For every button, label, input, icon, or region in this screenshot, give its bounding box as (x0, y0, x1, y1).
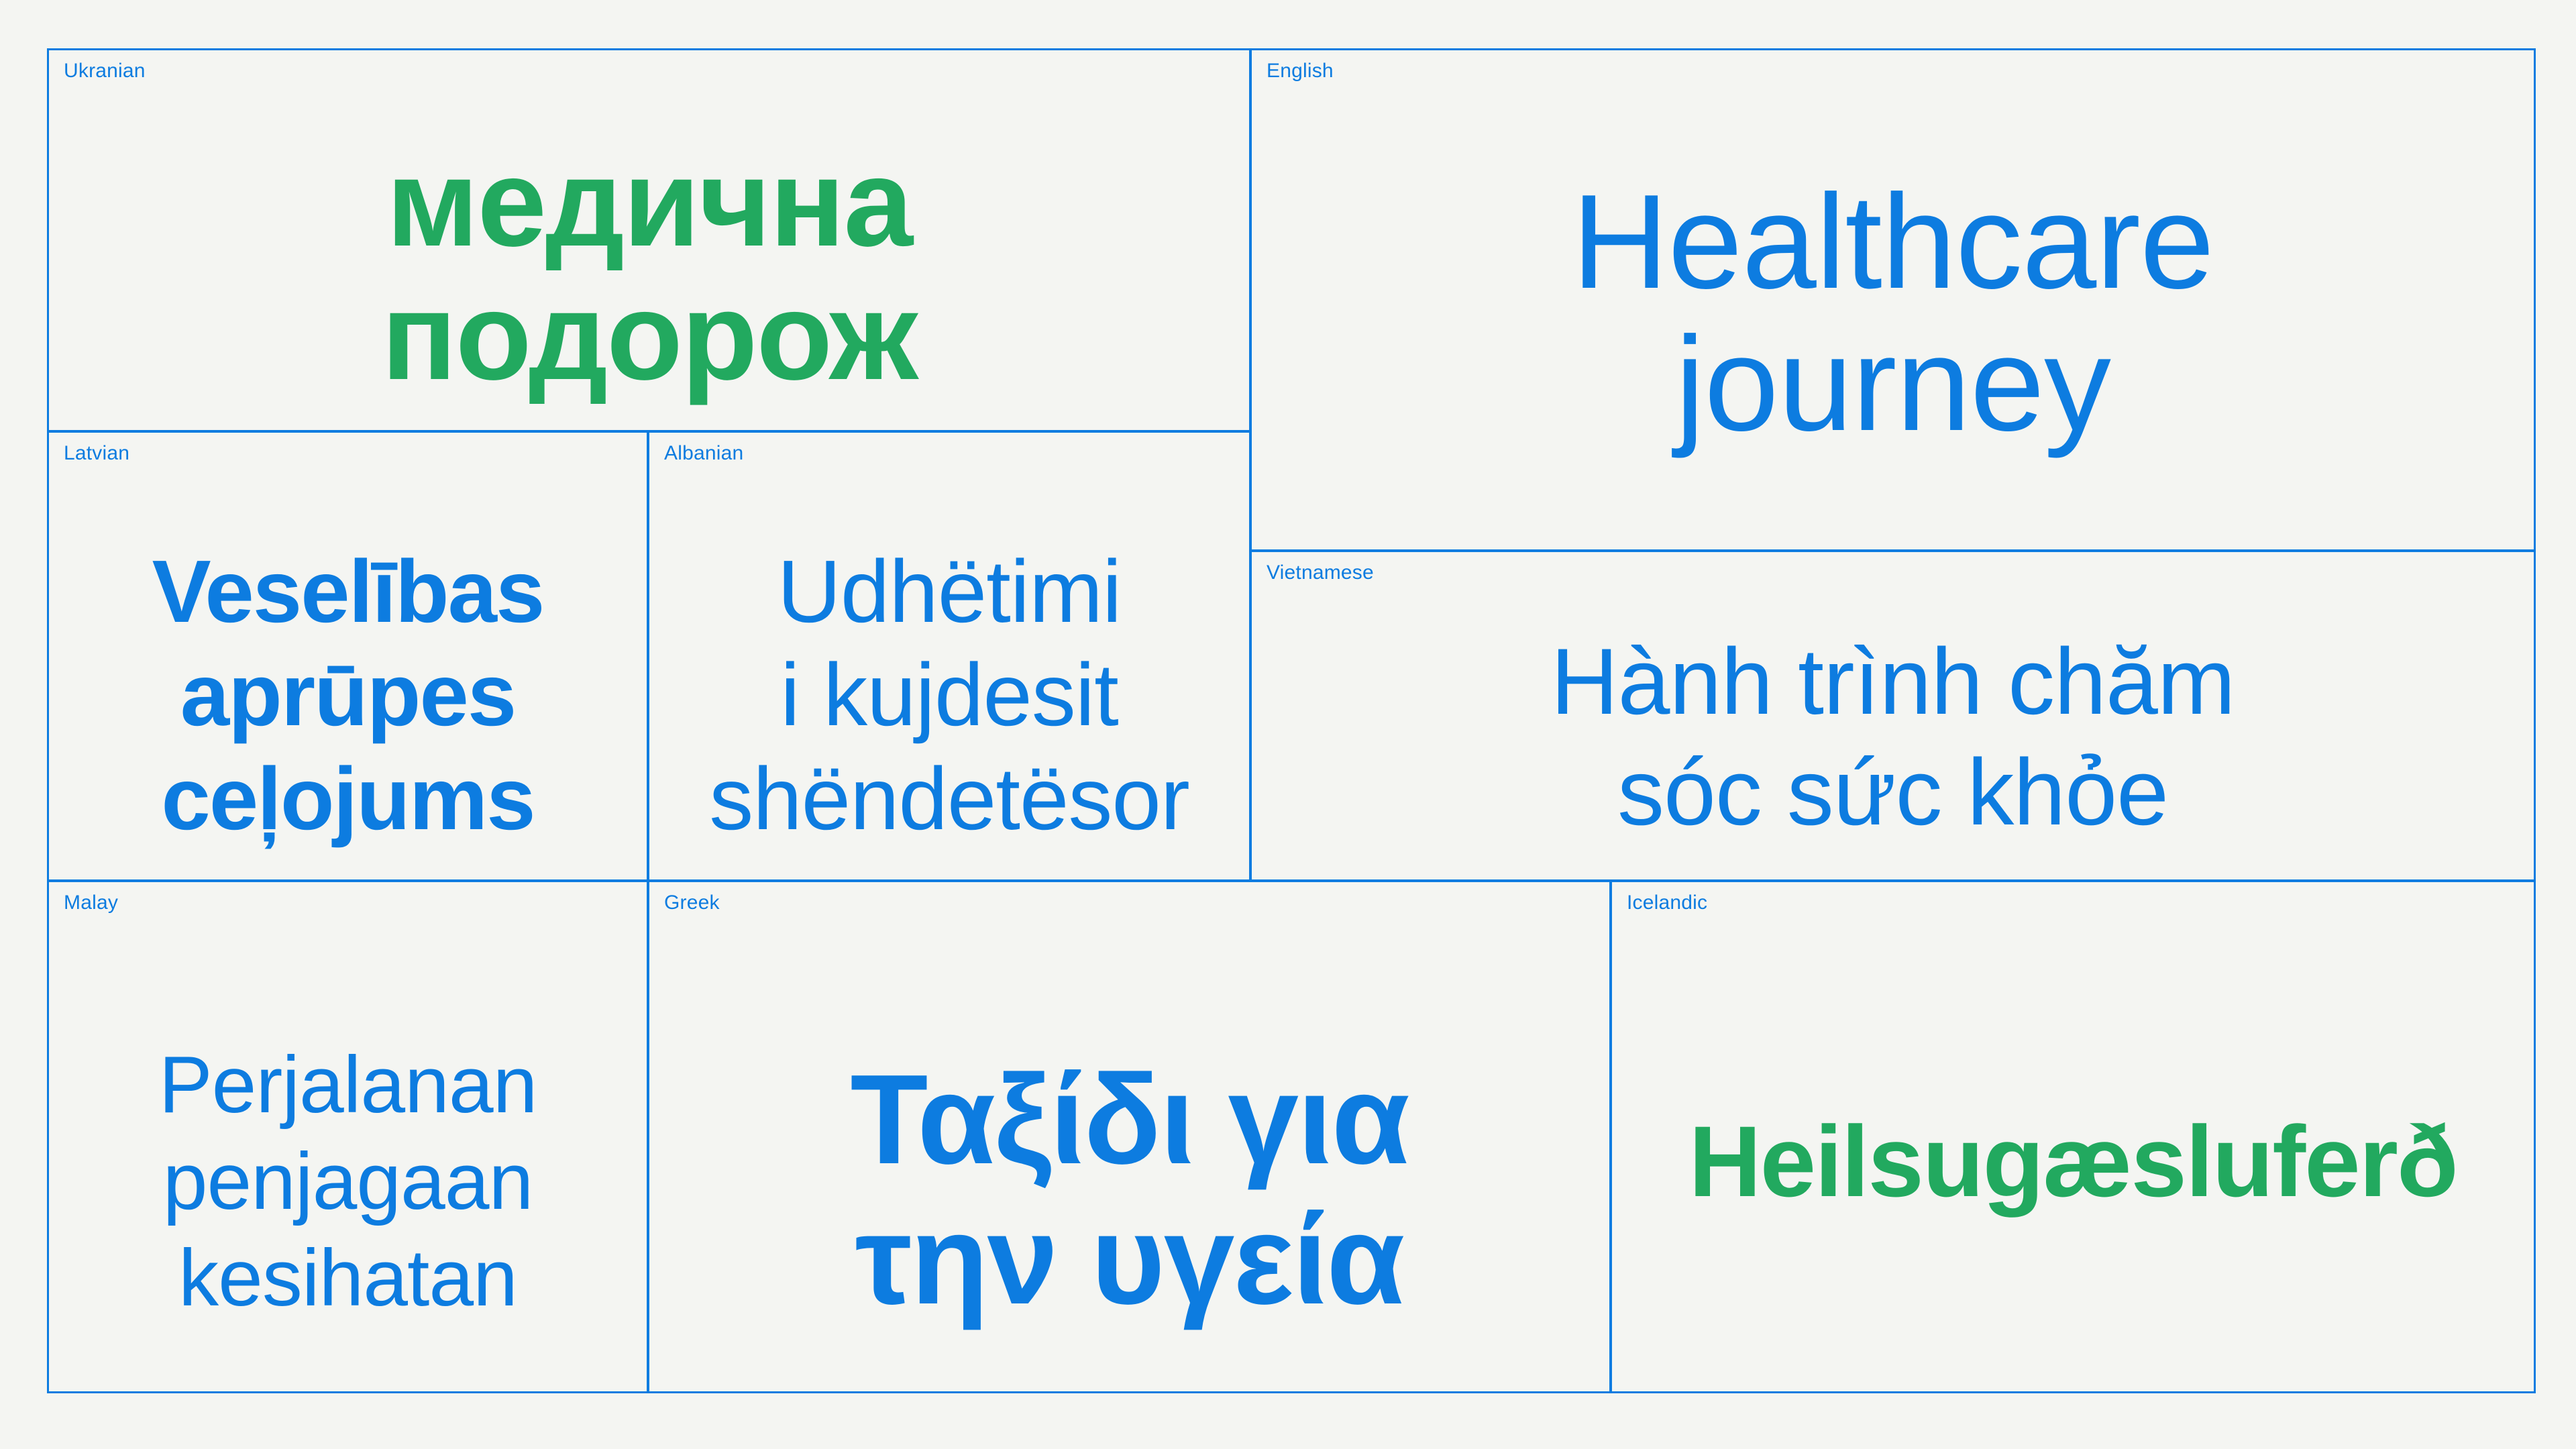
panel-label-vietnamese: Vietnamese (1267, 561, 1374, 585)
panel-phrase-latvian: Veselības aprūpes ceļojums (49, 540, 647, 851)
panel-phrase-greek: Ταξίδι για την υγεία (649, 1050, 1609, 1330)
language-panel-albanian[interactable]: Albanian Udhëtimi i kujdesit shëndetësor (647, 431, 1251, 881)
panel-label-albanian: Albanian (664, 442, 743, 466)
language-panel-english[interactable]: English Healthcare journey (1250, 48, 2536, 551)
specimen-grid: Ukranian медична подорож English Healthc… (0, 0, 2576, 1449)
panel-label-latvian: Latvian (64, 442, 129, 466)
panel-label-ukranian: Ukranian (64, 60, 146, 83)
panel-phrase-vietnamese: Hành trình chăm sóc sức khỏe (1252, 626, 2534, 847)
language-panel-vietnamese[interactable]: Vietnamese Hành trình chăm sóc sức khỏe (1250, 550, 2536, 881)
panel-phrase-albanian: Udhëtimi i kujdesit shëndetësor (649, 540, 1249, 851)
panel-label-malay: Malay (64, 892, 118, 915)
language-panel-icelandic[interactable]: Icelandic Heilsugæsluferð (1610, 880, 2536, 1393)
language-panel-greek[interactable]: Greek Ταξίδι για την υγεία (647, 880, 1611, 1393)
language-panel-ukranian[interactable]: Ukranian медична подорож (47, 48, 1251, 432)
language-panel-malay[interactable]: Malay Perjalanan penjagaan kesihatan (47, 880, 649, 1393)
panel-phrase-english: Healthcare journey (1252, 171, 2534, 455)
panel-label-greek: Greek (664, 892, 720, 915)
language-panel-latvian[interactable]: Latvian Veselības aprūpes ceļojums (47, 431, 649, 881)
panel-phrase-malay: Perjalanan penjagaan kesihatan (49, 1036, 647, 1326)
panel-phrase-icelandic: Heilsugæsluferð (1612, 1104, 2534, 1220)
panel-phrase-ukranian: медична подорож (49, 136, 1249, 403)
panel-label-icelandic: Icelandic (1627, 892, 1707, 915)
panel-label-english: English (1267, 60, 1334, 83)
